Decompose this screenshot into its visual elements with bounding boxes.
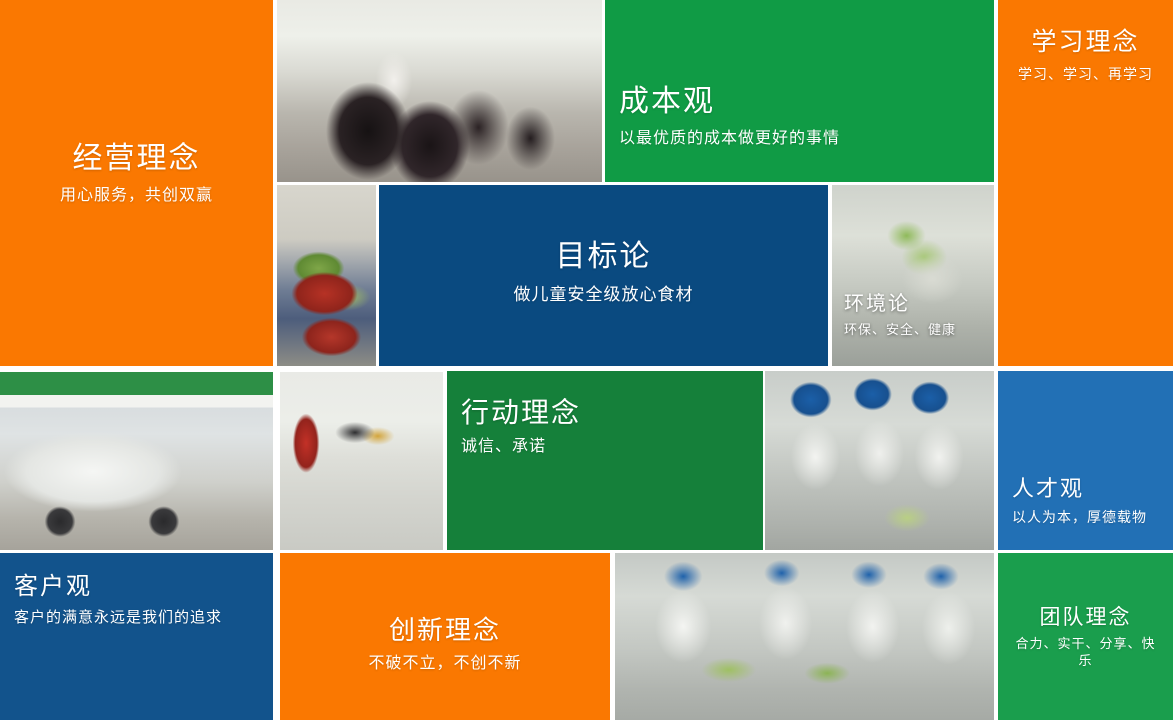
tile-subtitle-business-philosophy: 用心服务，共创双赢 <box>14 186 259 207</box>
tile-photo-meeting[interactable] <box>277 0 602 182</box>
tile-cost-view[interactable]: 成本观以最优质的成本做更好的事情 <box>605 0 994 182</box>
tile-title-team-philosophy: 团队理念 <box>1012 606 1159 630</box>
tile-business-philosophy[interactable]: 经营理念用心服务，共创双赢 <box>0 0 273 366</box>
tile-text-action-philosophy: 行动理念诚信、承诺 <box>447 397 763 458</box>
tile-text-goal-theory: 目标论做儿童安全级放心食材 <box>379 240 828 306</box>
tile-photo-vegetables[interactable] <box>277 185 376 366</box>
tile-subtitle-cost-view: 以最优质的成本做更好的事情 <box>619 129 980 150</box>
tile-subtitle-talent-view: 以人为本，厚德载物 <box>1012 508 1159 526</box>
tile-subtitle-team-philosophy: 合力、实干、分享、快乐 <box>1012 636 1159 670</box>
tile-innovation-philosophy[interactable]: 创新理念不破不立，不创不新 <box>280 553 610 720</box>
tile-subtitle-innovation-philosophy: 不破不立，不创不新 <box>294 654 596 675</box>
philosophy-wall-board: 经营理念用心服务，共创双赢成本观以最优质的成本做更好的事情学习理念学习、学习、再… <box>0 0 1173 720</box>
tile-title-action-philosophy: 行动理念 <box>461 397 749 429</box>
tile-subtitle-environment-theory: 环保、安全、健康 <box>844 322 982 339</box>
tile-action-philosophy[interactable]: 行动理念诚信、承诺 <box>447 371 763 550</box>
tile-photo-kitchen[interactable] <box>280 372 443 550</box>
tile-title-environment-theory: 环境论 <box>844 293 982 316</box>
tile-title-cost-view: 成本观 <box>619 85 980 120</box>
tile-title-innovation-philosophy: 创新理念 <box>294 616 596 646</box>
tile-text-environment-theory: 环境论环保、安全、健康 <box>832 293 994 339</box>
tile-text-talent-view: 人才观以人为本，厚德载物 <box>998 476 1173 526</box>
tile-team-philosophy[interactable]: 团队理念合力、实干、分享、快乐 <box>998 553 1173 720</box>
tile-photo-inspection[interactable] <box>765 371 994 550</box>
tile-talent-view[interactable]: 人才观以人为本，厚德载物 <box>998 371 1173 550</box>
tile-photo-processing[interactable] <box>615 553 994 720</box>
tile-learning-philosophy[interactable]: 学习理念学习、学习、再学习 <box>998 0 1173 366</box>
tile-environment-theory[interactable]: 环境论环保、安全、健康 <box>832 185 994 366</box>
tile-subtitle-action-philosophy: 诚信、承诺 <box>461 437 749 458</box>
tile-photo-truck[interactable] <box>0 372 273 550</box>
tile-text-customer-view: 客户观客户的满意永远是我们的追求 <box>0 573 273 627</box>
tile-text-innovation-philosophy: 创新理念不破不立，不创不新 <box>280 616 610 675</box>
tile-title-business-philosophy: 经营理念 <box>14 142 259 177</box>
tile-text-cost-view: 成本观以最优质的成本做更好的事情 <box>605 85 994 149</box>
tile-title-customer-view: 客户观 <box>14 573 259 601</box>
tile-text-team-philosophy: 团队理念合力、实干、分享、快乐 <box>998 606 1173 670</box>
tile-subtitle-goal-theory: 做儿童安全级放心食材 <box>393 284 814 306</box>
tile-goal-theory[interactable]: 目标论做儿童安全级放心食材 <box>379 185 828 366</box>
tile-customer-view[interactable]: 客户观客户的满意永远是我们的追求 <box>0 553 273 720</box>
tile-text-business-philosophy: 经营理念用心服务，共创双赢 <box>0 142 273 206</box>
tile-title-goal-theory: 目标论 <box>393 240 814 275</box>
tile-title-talent-view: 人才观 <box>1012 476 1159 501</box>
tile-text-learning-philosophy: 学习理念学习、学习、再学习 <box>998 28 1173 83</box>
tile-subtitle-customer-view: 客户的满意永远是我们的追求 <box>14 608 259 628</box>
tile-title-learning-philosophy: 学习理念 <box>1012 28 1159 57</box>
tile-subtitle-learning-philosophy: 学习、学习、再学习 <box>1012 65 1159 83</box>
